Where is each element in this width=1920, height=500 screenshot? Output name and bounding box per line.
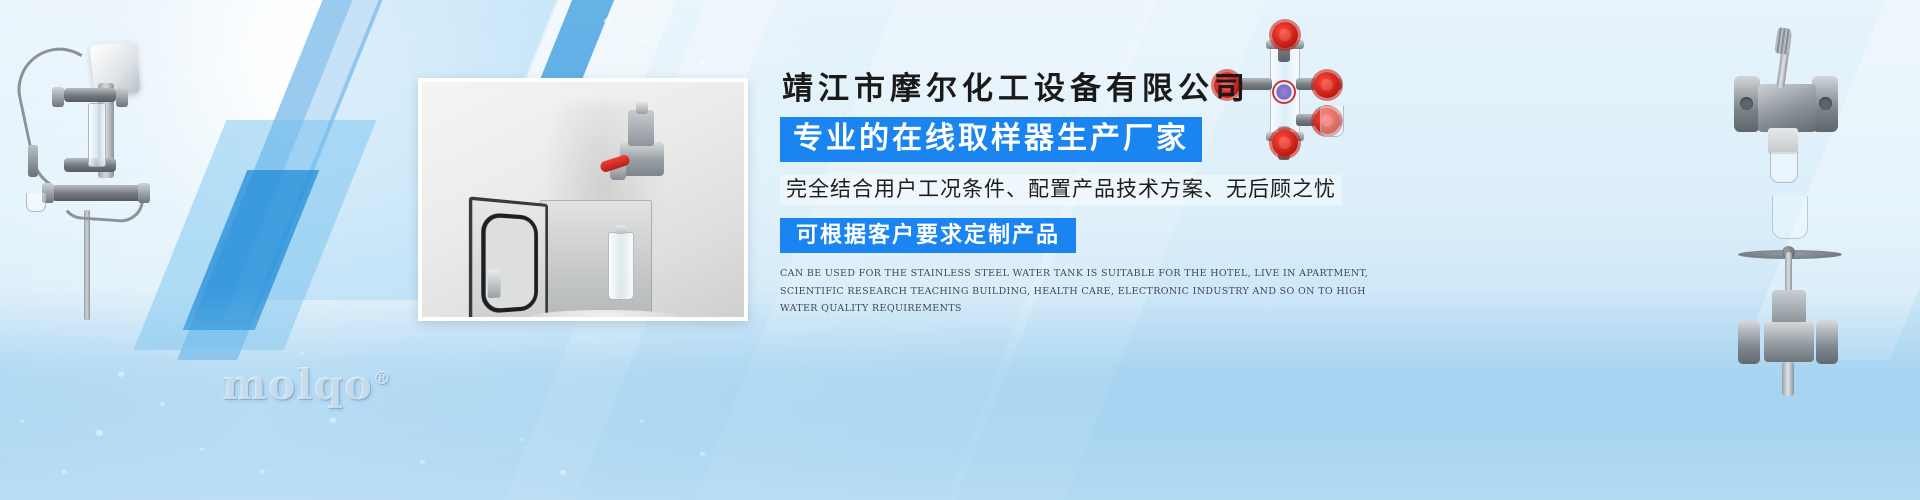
promo-banner: 靖江市摩尔化工设备有限公司 专业的在线取样器生产厂家 完全结合用户工况条件、配置… (0, 0, 1920, 500)
brand-watermark: molqo® (222, 360, 392, 409)
flanged-sampling-valve-image (1712, 28, 1862, 188)
company-name: 靖江市摩尔化工设备有限公司 (780, 72, 1400, 106)
callout-highlight: 可根据客户要求定制产品 (780, 218, 1076, 253)
registered-mark-icon: ® (373, 368, 392, 389)
subtitle-text: 完全结合用户工况条件、配置产品技术方案、无后顾之忧 (780, 175, 1342, 205)
headline-highlight: 专业的在线取样器生产厂家 (780, 117, 1202, 162)
left-sampler-device-image (12, 25, 162, 300)
watermark-text: molqo (222, 360, 373, 409)
banner-copy-block: 靖江市摩尔化工设备有限公司 专业的在线取样器生产厂家 完全结合用户工况条件、配置… (780, 72, 1400, 318)
handwheel-sampling-valve-image (1720, 250, 1860, 400)
english-description: CAN BE USED FOR THE STAINLESS STEEL WATE… (780, 265, 1380, 318)
center-product-photo (418, 78, 748, 321)
